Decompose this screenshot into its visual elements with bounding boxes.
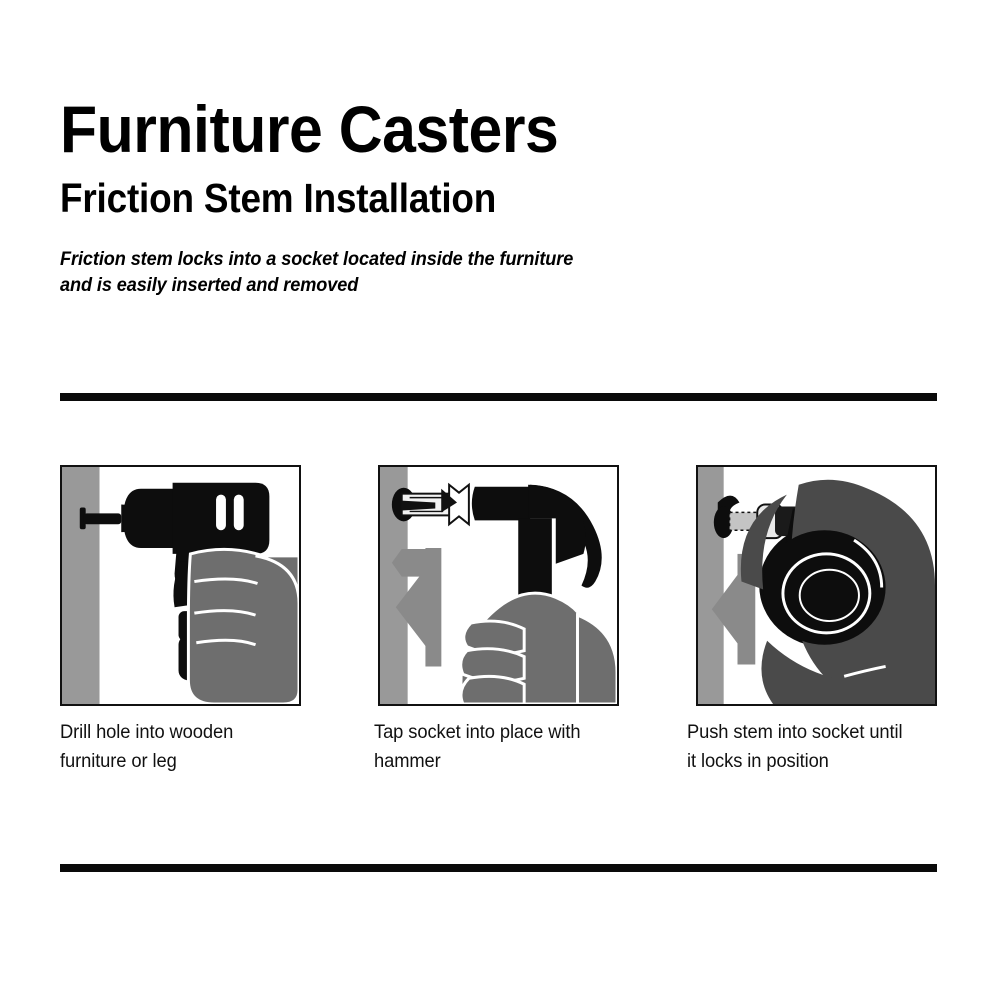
step-1-panel bbox=[60, 465, 301, 706]
instruction-sheet: Furniture Casters Friction Stem Installa… bbox=[0, 0, 1000, 1000]
page-title: Furniture Casters bbox=[60, 96, 870, 162]
step-2-caption: Tap socket into place with hammer bbox=[374, 718, 609, 776]
description-text: Friction stem locks into a socket locate… bbox=[60, 246, 637, 298]
step-3-caption-line-1: Push stem into socket until bbox=[687, 718, 922, 747]
gripping-hand bbox=[188, 549, 299, 704]
step-1-caption: Drill hole into wooden furniture or leg bbox=[60, 718, 295, 776]
description-line-2: and is easily inserted and removed bbox=[60, 272, 637, 298]
wall-strip bbox=[62, 467, 100, 704]
step-1-caption-line-2: furniture or leg bbox=[60, 747, 295, 776]
divider-rule-top bbox=[60, 393, 937, 401]
illustration-row bbox=[60, 465, 937, 706]
step-2-caption-line-1: Tap socket into place with bbox=[374, 718, 609, 747]
caption-row: Drill hole into wooden furniture or leg … bbox=[60, 718, 937, 776]
header-block: Furniture Casters Friction Stem Installa… bbox=[60, 96, 940, 298]
page-subtitle: Friction Stem Installation bbox=[60, 176, 852, 220]
caster-wheel-front bbox=[763, 530, 885, 645]
step-2-panel bbox=[378, 465, 619, 706]
step-3-caption-line-2: it locks in position bbox=[687, 747, 922, 776]
divider-rule-bottom bbox=[60, 864, 937, 872]
step-3-caption: Push stem into socket until it locks in … bbox=[687, 718, 922, 776]
description-line-1: Friction stem locks into a socket locate… bbox=[60, 246, 637, 272]
step-1-caption-line-1: Drill hole into wooden bbox=[60, 718, 295, 747]
step-2-caption-line-2: hammer bbox=[374, 747, 609, 776]
step-3-panel bbox=[696, 465, 937, 706]
